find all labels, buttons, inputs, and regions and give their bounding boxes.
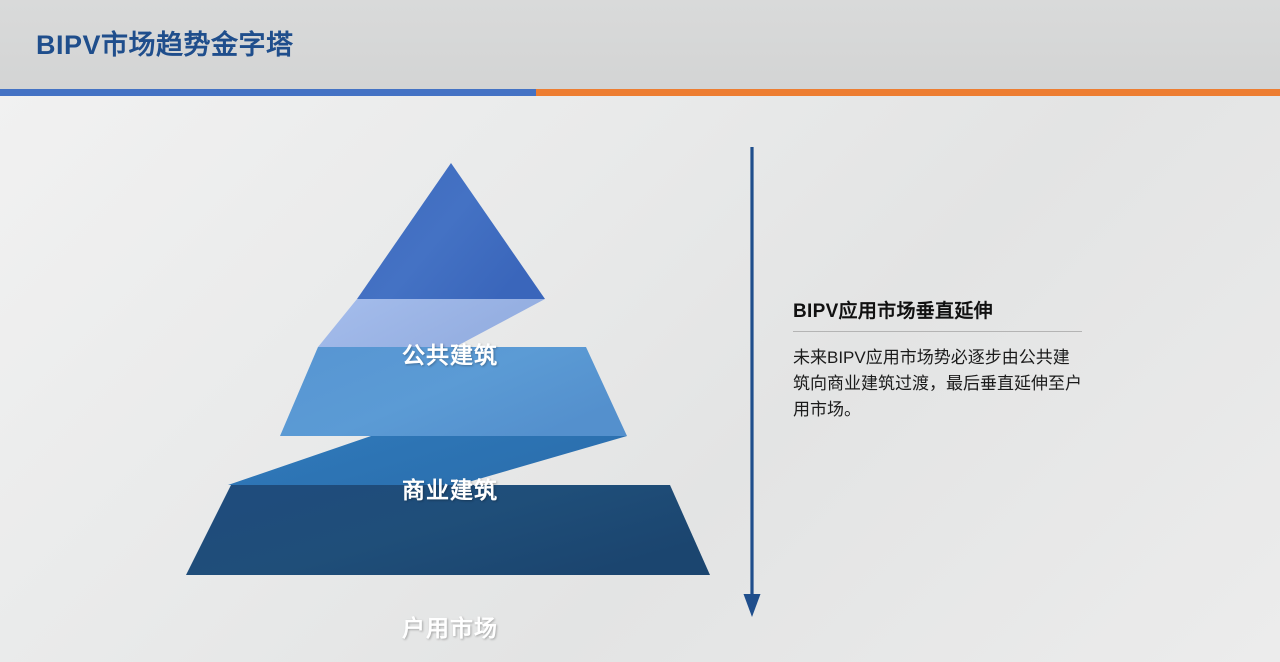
pyramid-shapes bbox=[0, 96, 760, 662]
pyramid-level-top bbox=[357, 163, 545, 299]
callout-divider bbox=[793, 331, 1082, 332]
pyramid-label-residential-market: 户用市场 bbox=[330, 609, 570, 643]
slide-body: 公共建筑 商业建筑 户用市场 BIPV应用市场垂直延伸 未来BIPV应用市场势必… bbox=[0, 96, 1280, 662]
downward-arrow bbox=[735, 136, 769, 626]
callout-body: 未来BIPV应用市场势必逐步由公共建筑向商业建筑过渡，最后垂直延伸至户用市场。 bbox=[793, 345, 1083, 423]
callout-block: BIPV应用市场垂直延伸 未来BIPV应用市场势必逐步由公共建筑向商业建筑过渡，… bbox=[793, 296, 1093, 423]
arrow-down-icon bbox=[735, 136, 769, 626]
header-rule-orange bbox=[536, 89, 1280, 96]
pyramid-label-public-building: 公共建筑 bbox=[330, 336, 570, 370]
pyramid-diagram: 公共建筑 商业建筑 户用市场 bbox=[0, 96, 760, 662]
slide-canvas: BIPV市场趋势金字塔 bbox=[0, 0, 1280, 662]
callout-heading: BIPV应用市场垂直延伸 bbox=[793, 296, 1093, 323]
page-title: BIPV市场趋势金字塔 bbox=[36, 23, 294, 62]
header-rule-blue bbox=[0, 89, 536, 96]
pyramid-label-commercial-building: 商业建筑 bbox=[330, 471, 570, 505]
